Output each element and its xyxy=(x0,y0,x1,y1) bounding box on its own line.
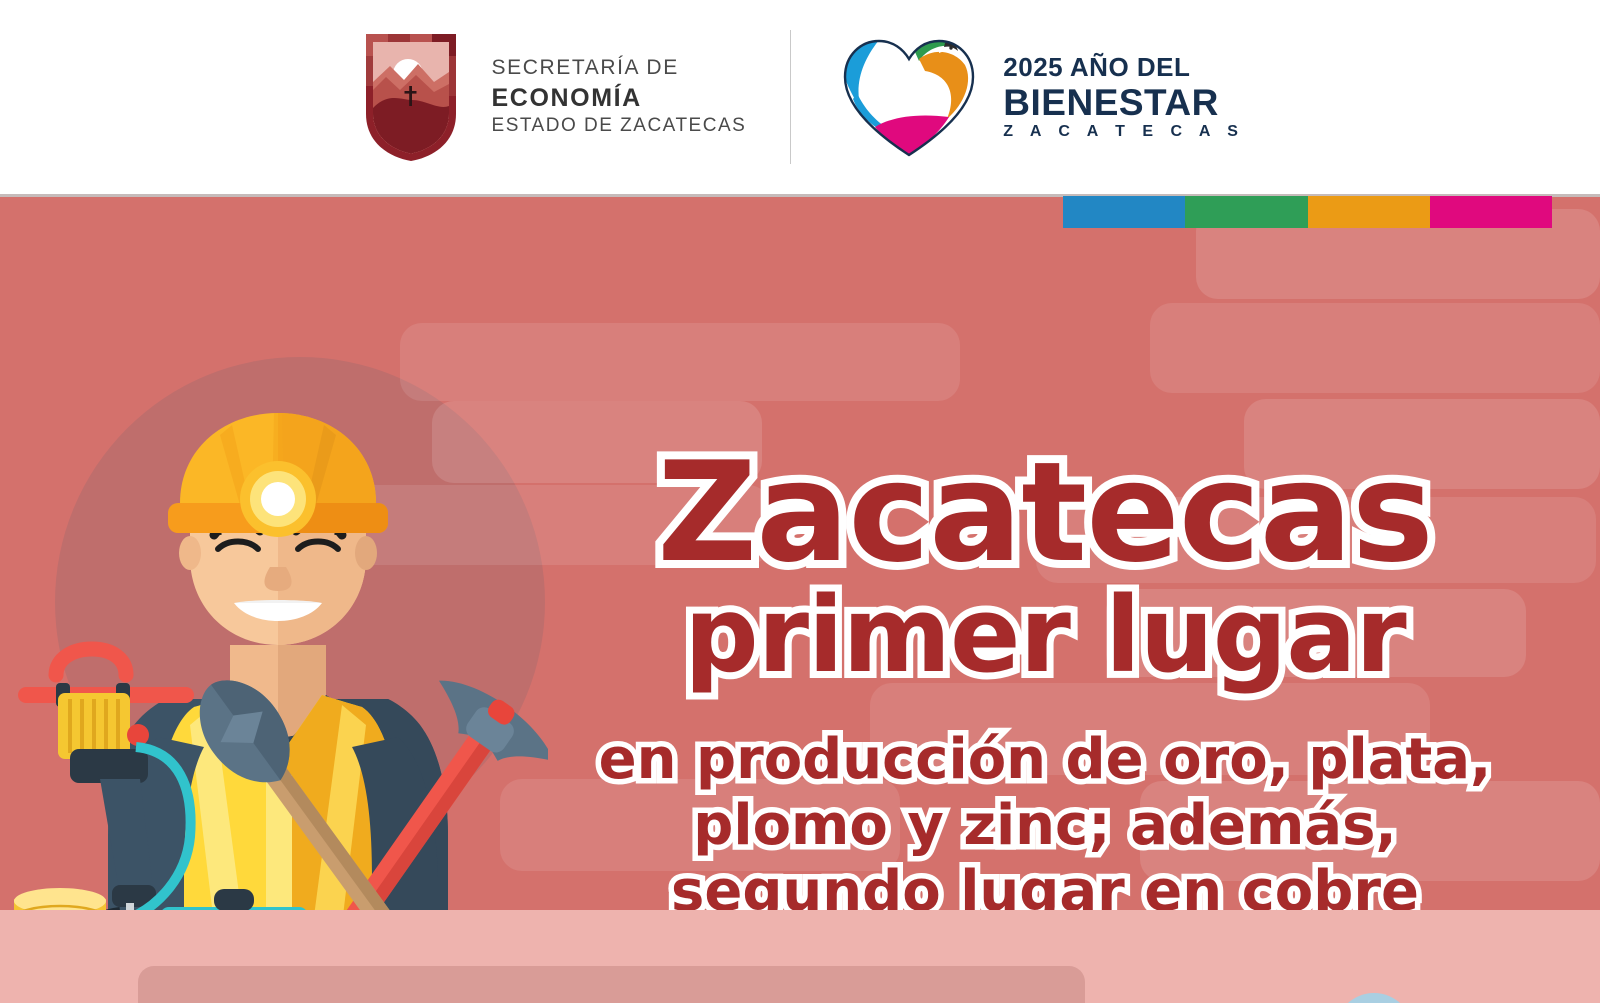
bar-magenta xyxy=(1430,196,1552,228)
hero-text-block: Zacatecas primer lugar en producción de … xyxy=(540,447,1550,910)
secretaria-wordmark: SECRETARÍA DE ECONOMÍA ESTADO DE ZACATEC… xyxy=(492,55,747,138)
secretaria-economia-logo: SECRETARÍA DE ECONOMÍA ESTADO DE ZACATEC… xyxy=(356,30,787,165)
decorative-rect-5 xyxy=(1150,303,1600,393)
secretaria-line3: ESTADO DE ZACATECAS xyxy=(492,114,747,138)
decorative-rect-1 xyxy=(400,323,960,401)
bienestar-logo: 2025 AÑO DEL BIENESTAR Z A C A T E C A S xyxy=(795,33,1244,161)
page-header: SECRETARÍA DE ECONOMÍA ESTADO DE ZACATEC… xyxy=(0,0,1600,194)
gold-coins-icon xyxy=(14,888,106,910)
hero-body-line-3: segundo lugar en cobre xyxy=(540,859,1550,911)
bar-orange xyxy=(1308,196,1430,228)
bienestar-line3: Z A C A T E C A S xyxy=(1003,123,1244,141)
header-logos: SECRETARÍA DE ECONOMÍA ESTADO DE ZACATEC… xyxy=(356,30,1245,165)
secretaria-line2: ECONOMÍA xyxy=(492,82,747,114)
page-title: Zacatecas xyxy=(540,447,1550,579)
header-divider xyxy=(790,30,791,164)
bar-green xyxy=(1185,196,1307,228)
page-subtitle: primer lugar xyxy=(540,583,1550,687)
heart-dove-icon xyxy=(839,33,979,161)
bienestar-line1: 2025 AÑO DEL xyxy=(1003,53,1244,82)
secretaria-line1: SECRETARÍA DE xyxy=(492,55,747,82)
accent-color-bar xyxy=(1063,196,1552,228)
hero-body-text: en producción de oro, plata, plomo y zin… xyxy=(540,727,1550,910)
miner-illustration xyxy=(8,407,548,910)
hero-body-line-1: en producción de oro, plata, xyxy=(540,727,1550,793)
hard-hat-icon xyxy=(168,413,388,537)
bienestar-line2: BIENESTAR xyxy=(1003,82,1244,123)
bienestar-wordmark: 2025 AÑO DEL BIENESTAR Z A C A T E C A S xyxy=(1003,53,1244,141)
bar-blue xyxy=(1063,196,1185,228)
hero-banner: Zacatecas primer lugar en producción de … xyxy=(0,197,1600,910)
poster-page: SECRETARÍA DE ECONOMÍA ESTADO DE ZACATEC… xyxy=(0,0,1600,1003)
bottom-content-card xyxy=(138,966,1085,1003)
zacatecas-shield-icon xyxy=(356,30,466,165)
hero-body-line-2: plomo y zinc; además, xyxy=(540,793,1550,859)
